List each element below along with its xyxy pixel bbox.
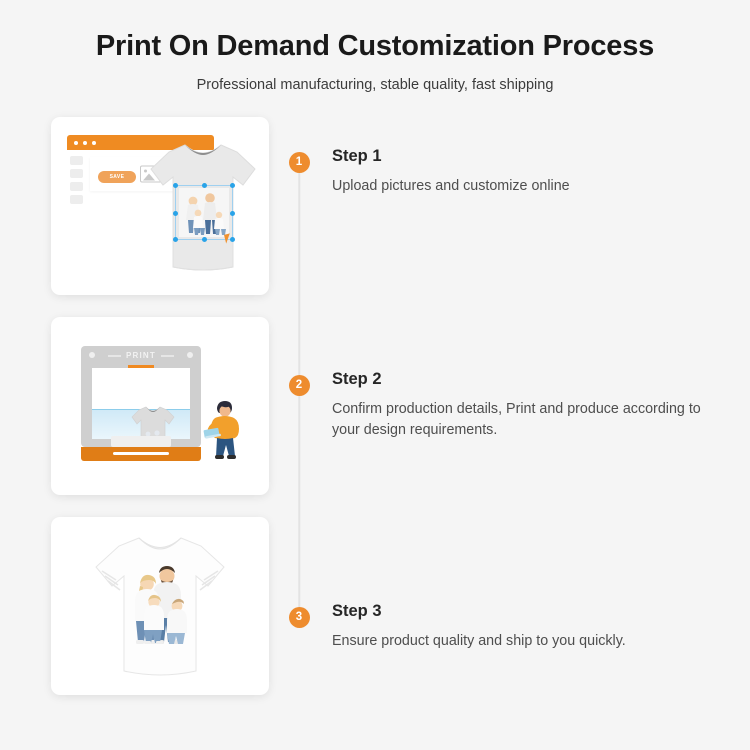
step-title: Step 1	[332, 147, 750, 167]
dash-decoration	[108, 355, 121, 357]
step-badge: 1	[289, 152, 310, 173]
machine-label: PRINT	[126, 351, 156, 360]
step-row: SAVE	[0, 117, 750, 295]
family-photo-print	[129, 562, 194, 644]
step-row: PRINT	[0, 317, 750, 495]
online-editor-illustration: SAVE	[51, 117, 269, 295]
page-title: Print On Demand Customization Process	[0, 28, 750, 64]
step-title: Step 2	[332, 370, 750, 390]
machine-base	[81, 447, 201, 461]
step-description: Confirm production details, Print and pr…	[332, 399, 732, 440]
resize-handle[interactable]	[202, 183, 207, 188]
page-header: Print On Demand Customization Process Pr…	[0, 0, 750, 93]
poster-root: Print On Demand Customization Process Pr…	[0, 0, 750, 750]
machine-platform	[111, 436, 171, 447]
steps-list: SAVE	[0, 117, 750, 695]
resize-handle[interactable]	[173, 211, 178, 216]
step-image-card-2: PRINT	[51, 317, 269, 495]
step-title: Step 3	[332, 602, 750, 622]
machine-chamber	[92, 368, 190, 439]
machine-header: PRINT	[81, 346, 201, 365]
dash-decoration	[161, 355, 174, 357]
step-description: Upload pictures and customize online	[332, 176, 732, 197]
selection-box[interactable]	[175, 185, 233, 240]
step-badge: 2	[289, 375, 310, 396]
step-text-block: Step 3 Ensure product quality and ship t…	[329, 517, 750, 652]
step-image-card-3	[51, 517, 269, 695]
step-description: Ensure product quality and ship to you q…	[332, 631, 732, 652]
finished-tshirt-illustration	[51, 517, 269, 695]
step-image-card-1: SAVE	[51, 117, 269, 295]
window-dot-icon	[83, 141, 87, 145]
worker-figure	[203, 399, 245, 467]
page-subtitle: Professional manufacturing, stable quali…	[0, 77, 750, 93]
output-slot	[113, 452, 169, 455]
sidebar-block	[70, 156, 83, 165]
sidebar-block	[70, 169, 83, 178]
sidebar-block	[70, 182, 83, 191]
window-dot-icon	[92, 141, 96, 145]
step-badge: 3	[289, 607, 310, 628]
window-dot-icon	[74, 141, 78, 145]
step-text-block: Step 1 Upload pictures and customize onl…	[329, 117, 750, 197]
sidebar-block	[70, 195, 83, 204]
step-text-block: Step 2 Confirm production details, Print…	[329, 317, 750, 440]
print-machine: PRINT	[81, 346, 201, 461]
printing-machine-illustration: PRINT	[51, 317, 269, 495]
resize-handle[interactable]	[173, 183, 178, 188]
save-button[interactable]: SAVE	[98, 171, 136, 183]
step-row: 3 Step 3 Ensure product quality and ship…	[0, 517, 750, 695]
editor-sidebar	[67, 150, 86, 228]
